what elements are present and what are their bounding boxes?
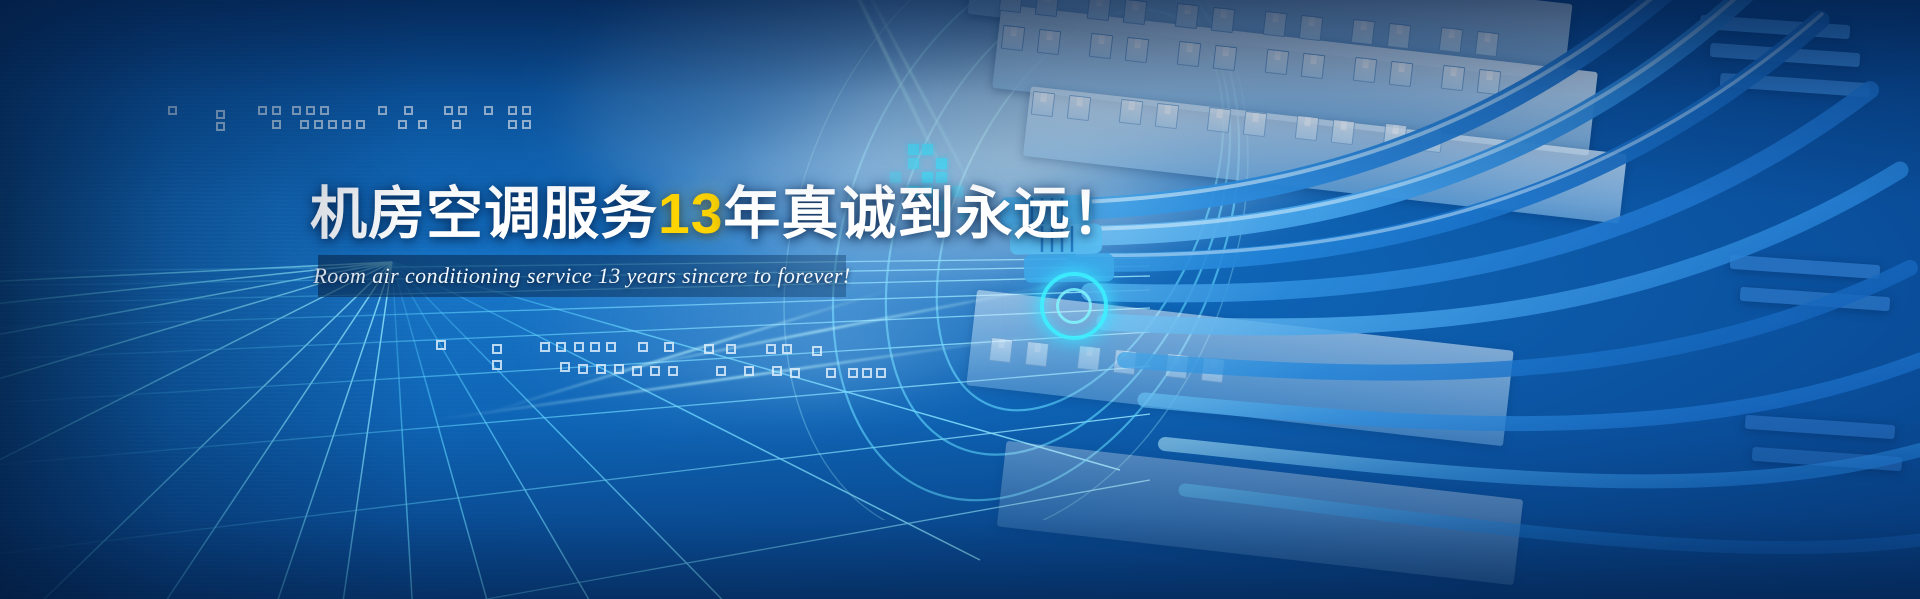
- vignette-bottom: [0, 0, 1920, 599]
- hero-banner: 机房空调服务13年真诚到永远！ Room air conditioning se…: [0, 0, 1920, 599]
